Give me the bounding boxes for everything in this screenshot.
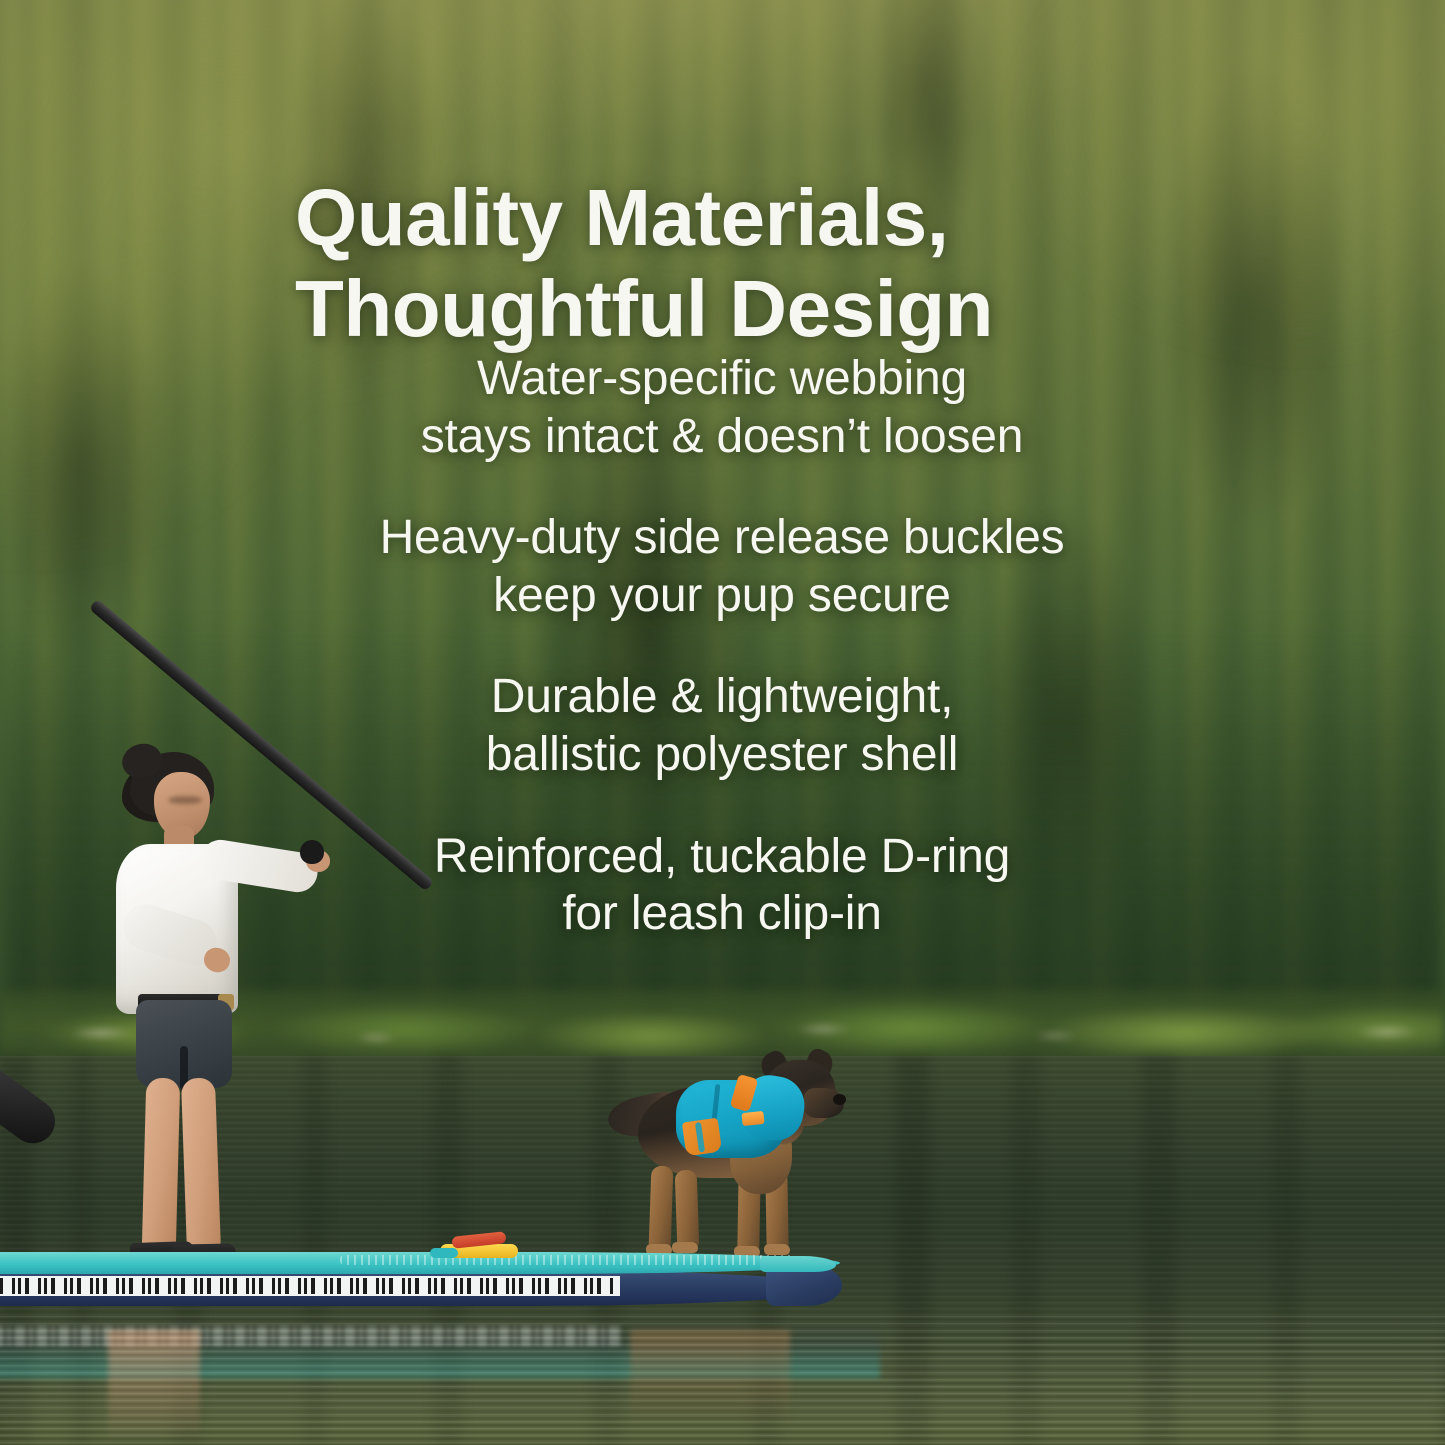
dog-leg-rear-right (675, 1170, 700, 1249)
dog-figure (614, 1058, 844, 1273)
paddleboard (0, 1252, 880, 1328)
forest-highlight-right (865, 0, 1445, 540)
dog-nose (833, 1094, 846, 1105)
deck-gear-teal (430, 1248, 458, 1258)
paddleboard-deck (0, 1252, 840, 1274)
life-jacket-side-strap (682, 1118, 722, 1157)
promo-image: Quality Materials, Thoughtful Design Wat… (0, 0, 1445, 1445)
paddleboard-tick-graphic (0, 1278, 616, 1294)
paddleboard-graphic-reflection (0, 1326, 620, 1346)
dog-leg-rear-left (649, 1166, 674, 1251)
paddler-reflection (108, 1330, 200, 1442)
paddler-leg-left (142, 1078, 181, 1255)
paddleboard-nose-deck (760, 1256, 836, 1272)
paddler-shorts (136, 1000, 232, 1088)
forest-highlight-left (0, 0, 860, 580)
paddle-grip (300, 840, 324, 864)
paddler-figure (96, 742, 306, 1262)
dog-reflection (630, 1330, 790, 1430)
life-jacket-d-ring (741, 1111, 764, 1126)
paddler-leg-right (181, 1077, 221, 1254)
